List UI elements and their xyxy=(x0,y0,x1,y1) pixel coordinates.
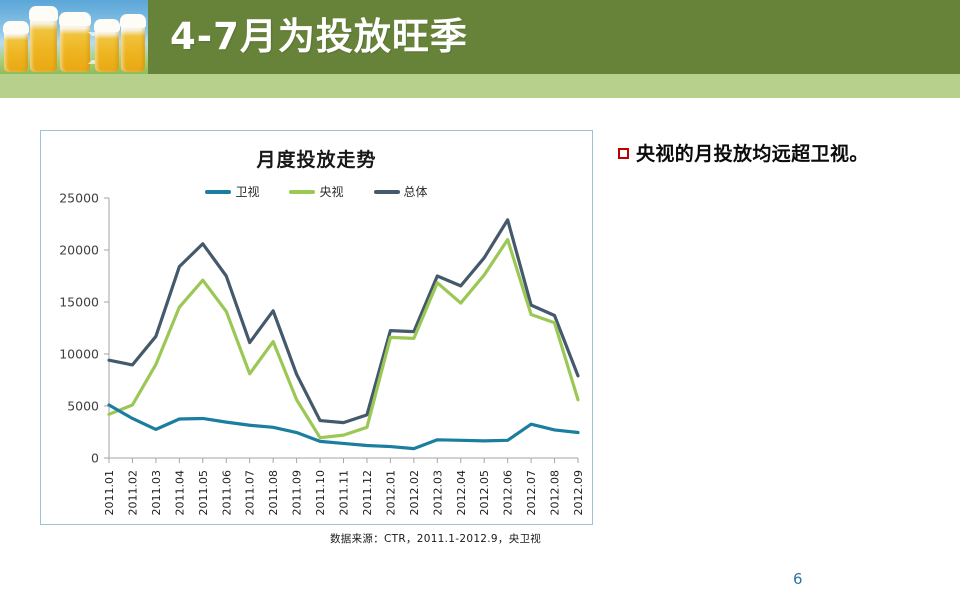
beer-mugs-photo xyxy=(0,0,148,74)
chart-panel: 月度投放走势 卫视 央视 总体 050001000015000200002500… xyxy=(40,130,593,525)
line-chart-svg: 05000100001500020000250002011.012011.022… xyxy=(41,131,594,526)
bullet-paragraph: 央视的月投放均远超卫视。 xyxy=(618,140,938,169)
y-axis-tick-label: 10000 xyxy=(59,347,99,362)
series-line-2 xyxy=(109,220,578,423)
x-axis-tick-label: 2012.09 xyxy=(572,470,585,516)
square-bullet-icon xyxy=(618,148,629,159)
x-axis-tick-label: 2012.07 xyxy=(525,470,538,516)
x-axis-tick-label: 2011.11 xyxy=(338,470,351,516)
y-axis-tick-label: 5000 xyxy=(67,399,99,414)
series-line-0 xyxy=(109,405,578,449)
x-axis-tick-label: 2011.05 xyxy=(197,470,210,516)
x-axis-tick-label: 2012.08 xyxy=(549,470,562,516)
x-axis-tick-label: 2011.04 xyxy=(173,470,186,516)
x-axis-tick-label: 2011.09 xyxy=(291,470,304,516)
x-axis-tick-label: 2012.01 xyxy=(384,470,397,516)
header-light-green-band xyxy=(0,74,960,98)
x-axis-tick-label: 2012.06 xyxy=(502,470,515,516)
chart-plot-area: 05000100001500020000250002011.012011.022… xyxy=(41,131,594,526)
slide-title: 4-7月为投放旺季 xyxy=(170,10,468,64)
slide-header: 4-7月为投放旺季 xyxy=(0,0,960,98)
x-axis-tick-label: 2012.02 xyxy=(408,470,421,516)
x-axis-tick-label: 2011.12 xyxy=(361,470,374,516)
x-axis-tick-label: 2011.07 xyxy=(244,470,257,516)
x-axis-tick-label: 2011.03 xyxy=(150,470,163,516)
x-axis-tick-label: 2012.04 xyxy=(455,470,468,516)
x-axis-tick-label: 2011.10 xyxy=(314,470,327,516)
y-axis-tick-label: 15000 xyxy=(59,295,99,310)
x-axis-tick-label: 2011.01 xyxy=(103,470,116,516)
y-axis-tick-label: 0 xyxy=(91,451,99,466)
x-axis-tick-label: 2011.02 xyxy=(126,470,139,516)
y-axis-tick-label: 20000 xyxy=(59,243,99,258)
x-axis-tick-label: 2012.03 xyxy=(431,470,444,516)
bullet-text-content: 央视的月投放均远超卫视。 xyxy=(636,143,869,165)
x-axis-tick-label: 2011.08 xyxy=(267,470,280,516)
x-axis-tick-label: 2011.06 xyxy=(220,470,233,516)
chart-source-note: 数据来源：CTR，2011.1-2012.9，央卫视 xyxy=(330,531,541,546)
y-axis-tick-label: 25000 xyxy=(59,191,99,206)
page-number: 6 xyxy=(793,570,803,588)
x-axis-tick-label: 2012.05 xyxy=(478,470,491,516)
bullet-block: 央视的月投放均远超卫视。 xyxy=(618,140,938,169)
